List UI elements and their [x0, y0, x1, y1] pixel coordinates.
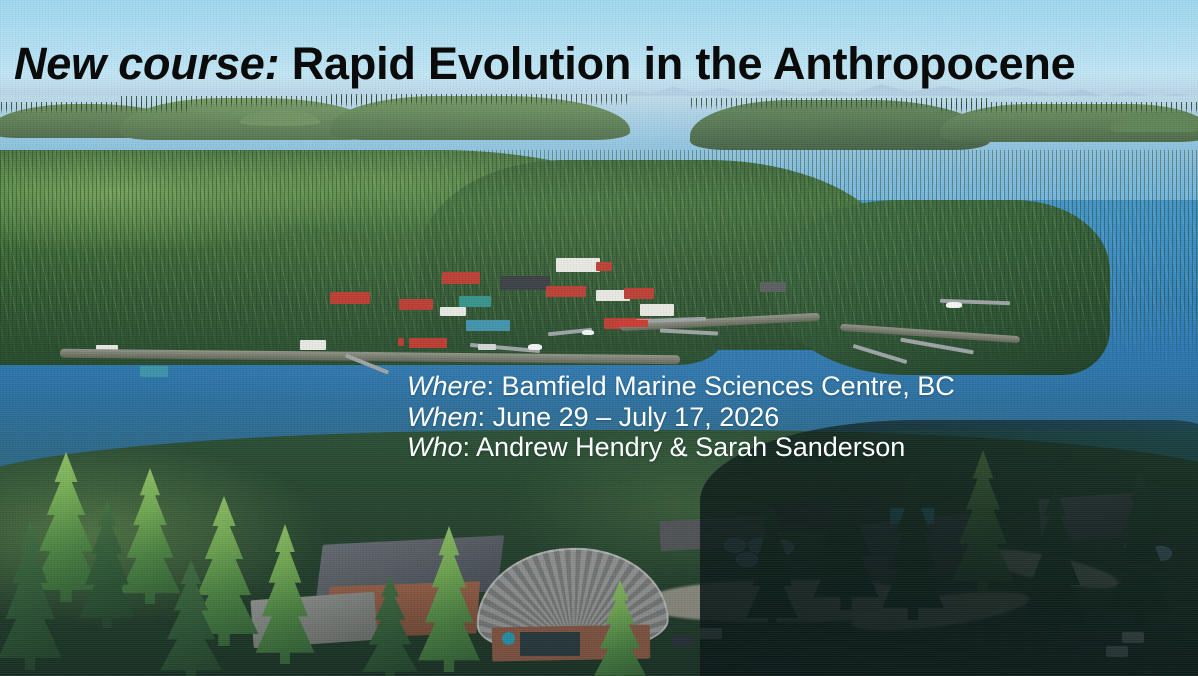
village-building [640, 304, 674, 316]
detail-label-where: Where [407, 371, 487, 401]
parked-car [672, 636, 694, 647]
boat [582, 330, 594, 335]
title-rest: Rapid Evolution in the Anthropocene [279, 38, 1075, 89]
detail-value-who: Andrew Hendry & Sarah Sanderson [476, 432, 905, 462]
village-building [330, 292, 370, 304]
detail-label-who: Who [407, 432, 463, 462]
page-title: New course: Rapid Evolution in the Anthr… [14, 38, 1076, 90]
village-building [140, 366, 168, 377]
village-building [760, 282, 786, 292]
detail-row-when: When: June 29 – July 17, 2026 [407, 402, 955, 433]
fan-building-entrance [520, 632, 580, 656]
boat [946, 302, 962, 308]
boat [528, 344, 542, 350]
village-building [409, 338, 447, 348]
floating-dock [478, 344, 496, 350]
village-building [442, 272, 480, 284]
background-photograph [0, 0, 1198, 676]
village-building [466, 320, 510, 331]
village-building [556, 258, 600, 272]
course-details: Where: Bamfield Marine Sciences Centre, … [407, 371, 955, 463]
detail-value-when: June 29 – July 17, 2026 [493, 402, 780, 432]
village-building [398, 338, 404, 346]
village-building [596, 262, 612, 271]
title-emphasis: New course: [14, 38, 279, 89]
village-building [624, 288, 654, 299]
detail-label-when: When [407, 402, 478, 432]
detail-separator: : [463, 432, 477, 462]
presentation-slide: New course: Rapid Evolution in the Anthr… [0, 0, 1198, 676]
village-building [459, 296, 491, 307]
detail-separator: : [487, 371, 502, 401]
detail-value-where: Bamfield Marine Sciences Centre, BC [502, 371, 955, 401]
detail-row-who: Who: Andrew Hendry & Sarah Sanderson [407, 432, 955, 463]
village-building [300, 340, 326, 350]
island-treeline [940, 102, 1198, 114]
detail-row-where: Where: Bamfield Marine Sciences Centre, … [407, 371, 955, 402]
detail-separator: : [478, 402, 493, 432]
building-logo [502, 632, 515, 645]
island-treeline [330, 94, 630, 106]
float-home [618, 320, 648, 327]
village-building [500, 276, 550, 290]
village-building [546, 286, 586, 297]
village-building [399, 299, 433, 310]
village-building [440, 307, 466, 316]
